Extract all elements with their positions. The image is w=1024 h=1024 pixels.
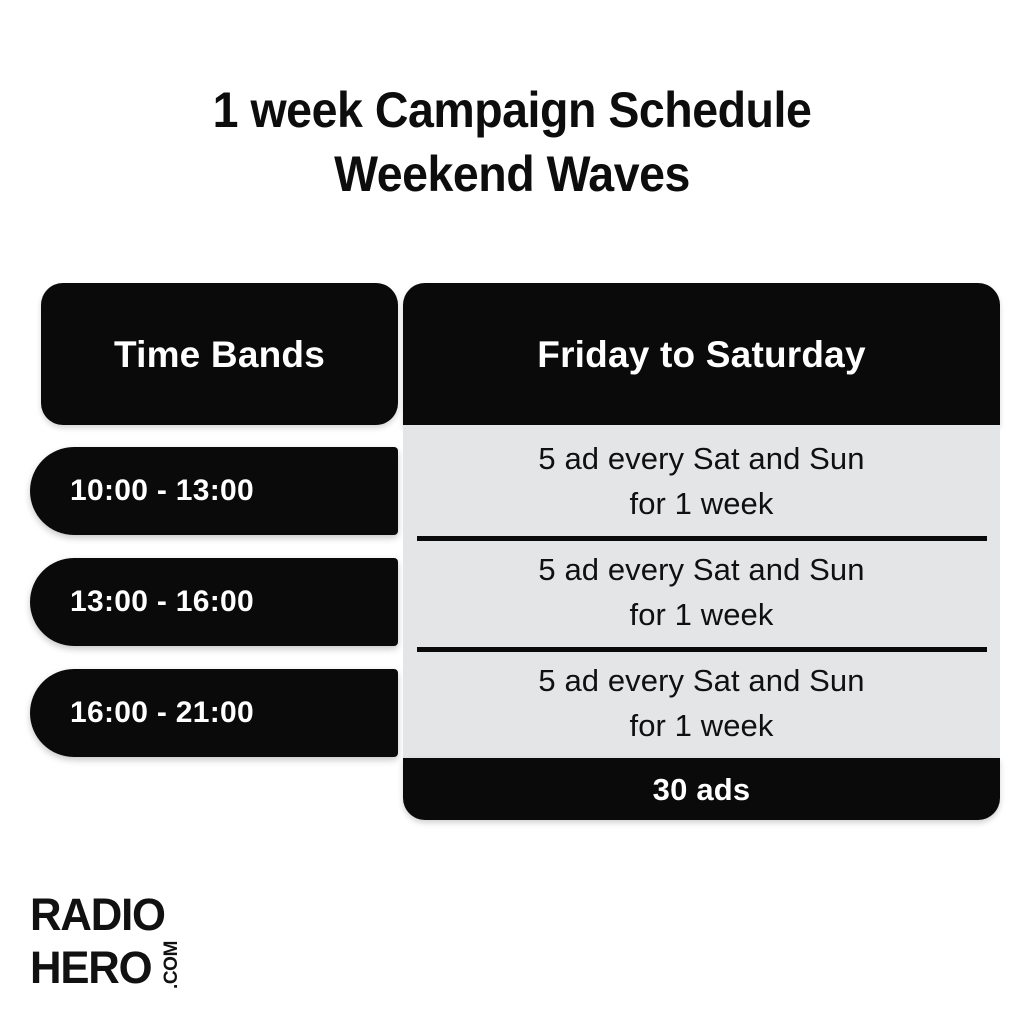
schedule-cell-text: 5 ad every Sat and Sun for 1 week [538,547,864,637]
time-bands-header-label: Time Bands [114,336,325,373]
schedule-cell: 5 ad every Sat and Sun for 1 week [403,647,1000,758]
page-title-line-1: 1 week Campaign Schedule [36,78,988,142]
schedule-cell: 5 ad every Sat and Sun for 1 week [403,425,1000,536]
time-band-label: 16:00 - 21:00 [30,698,254,728]
day-range-column: Friday to Saturday 5 ad every Sat and Su… [403,283,1000,820]
logo-word-radio: RADIO [30,893,165,937]
schedule-cell: 5 ad every Sat and Sun for 1 week [403,536,1000,647]
schedule-table: Time Bands 10:00 - 13:00 13:00 - 16:00 1… [0,283,1024,843]
page-title: 1 week Campaign Schedule Weekend Waves [0,78,1024,206]
total-ads-label: 30 ads [653,774,751,805]
day-range-header-label: Friday to Saturday [537,336,865,373]
logo-dotcom-suffix: .COM [162,941,181,989]
logo-word-hero: HERO [30,946,151,990]
page-title-line-2: Weekend Waves [36,142,988,206]
time-band-label: 10:00 - 13:00 [30,476,254,506]
poster-canvas: 1 week Campaign Schedule Weekend Waves T… [0,0,1024,1024]
schedule-cell-text: 5 ad every Sat and Sun for 1 week [538,436,864,526]
logo-row-top: RADIO [30,893,181,937]
time-band-pill[interactable]: 10:00 - 13:00 [30,447,398,535]
time-band-pill[interactable]: 16:00 - 21:00 [30,669,398,757]
time-band-label: 13:00 - 16:00 [30,587,254,617]
radiohero-logo[interactable]: RADIO HERO .COM [30,893,181,990]
schedule-cells: 5 ad every Sat and Sun for 1 week 5 ad e… [403,425,1000,758]
logo-row-bottom: HERO .COM [30,941,181,990]
time-bands-header: Time Bands [41,283,398,425]
time-band-pill[interactable]: 13:00 - 16:00 [30,558,398,646]
day-range-header: Friday to Saturday [403,283,1000,425]
total-ads-row: 30 ads [403,758,1000,820]
schedule-cell-text: 5 ad every Sat and Sun for 1 week [538,658,864,748]
